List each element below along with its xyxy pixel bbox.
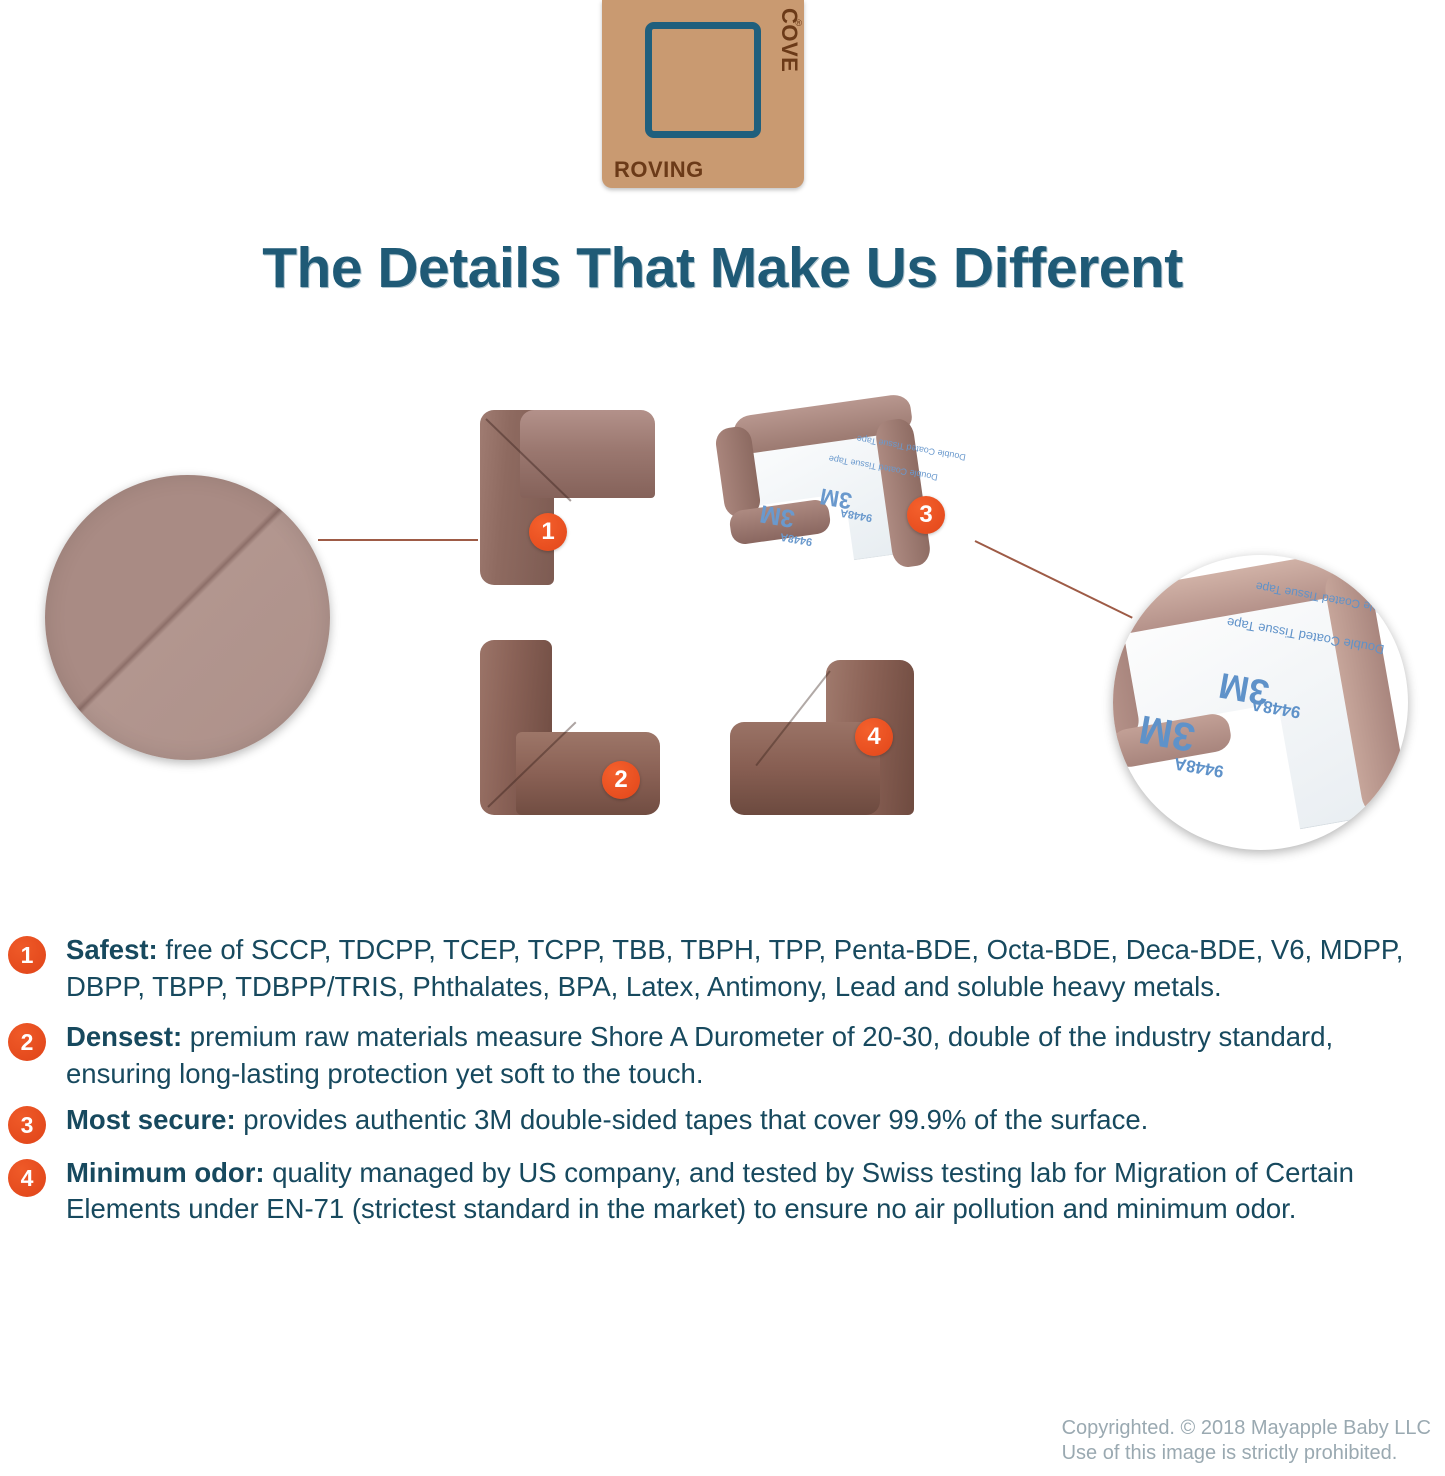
callout-dot-4: 4 <box>855 718 893 756</box>
feature-text-3: provides authentic 3M double-sided tapes… <box>236 1104 1149 1135</box>
guard-arm-horizontal <box>520 410 655 498</box>
feature-label-3: Most secure: <box>66 1104 236 1135</box>
copyright-notice: Copyrighted. © 2018 Mayapple Baby LLC Us… <box>1062 1416 1431 1466</box>
feature-label-4: Minimum odor: <box>66 1157 265 1188</box>
3m-tape-closeup-circle: 3M 3M 9448A 9448A Double Coated Tissue T… <box>1113 555 1408 850</box>
feature-badge-1: 1 <box>8 936 46 974</box>
feature-text-1: free of SCCP, TDCPP, TCEP, TCPP, TBB, TB… <box>66 934 1403 1002</box>
page-title: The Details That Make Us Different <box>0 235 1445 301</box>
feature-item-1: 1 Safest: free of SCCP, TDCPP, TCEP, TCP… <box>0 932 1445 1005</box>
copyright-line-1: Copyrighted. © 2018 Mayapple Baby LLC <box>1062 1416 1431 1441</box>
corner-guard-front <box>480 410 655 585</box>
feature-label-1: Safest: <box>66 934 158 965</box>
feature-list: 1 Safest: free of SCCP, TDCPP, TCEP, TCP… <box>0 932 1445 1246</box>
closeup-foam-frame: 3M 3M 9448A 9448A Double Coated Tissue T… <box>1113 555 1408 850</box>
registered-trademark-icon: ® <box>795 18 802 28</box>
closeup-tape-brand-label: 3M <box>1136 705 1199 759</box>
leader-line-left <box>318 539 478 541</box>
leader-line-right <box>975 540 1133 619</box>
logo-square-frame <box>645 22 761 138</box>
feature-label-2: Densest: <box>66 1021 182 1052</box>
feature-badge-4: 4 <box>8 1159 46 1197</box>
feature-item-2: 2 Densest: premium raw materials measure… <box>0 1019 1445 1092</box>
product-illustration-area: 3M 3M 9448A 9448A Double Coated Tissue T… <box>0 370 1445 910</box>
callout-dot-3: 3 <box>907 496 945 534</box>
brand-logo-badge: ROVING COVE ® <box>602 0 804 188</box>
foam-surface-closeup-circle <box>45 475 330 760</box>
feature-text-2: premium raw materials measure Shore A Du… <box>66 1021 1333 1089</box>
feature-item-4: 4 Minimum odor: quality managed by US co… <box>0 1155 1445 1228</box>
feature-badge-2: 2 <box>8 1023 46 1061</box>
logo-text-roving: ROVING <box>614 159 704 181</box>
callout-dot-1: 1 <box>529 513 567 551</box>
feature-item-3: 3 Most secure: provides authentic 3M dou… <box>0 1102 1445 1139</box>
feature-badge-3: 3 <box>8 1106 46 1144</box>
callout-dot-2: 2 <box>602 761 640 799</box>
copyright-line-2: Use of this image is strictly prohibited… <box>1062 1441 1431 1466</box>
corner-guard-with-3m-tape: 3M 3M 9448A 9448A Double Coated Tissue T… <box>716 405 926 585</box>
tape-brand-label: 3M <box>758 498 797 533</box>
closeup-tape-code-label: 9448A <box>1173 753 1226 781</box>
